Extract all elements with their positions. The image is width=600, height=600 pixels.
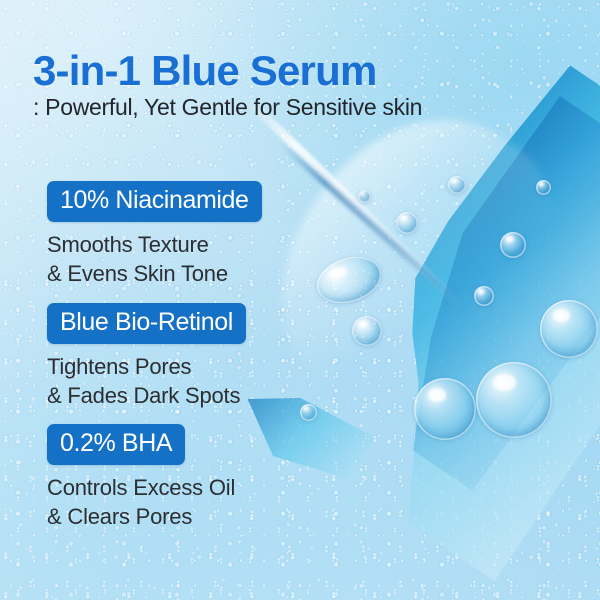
feature-description-bha: Controls Excess Oil & Clears Pores — [47, 473, 235, 531]
page-title: 3-in-1 Blue Serum — [33, 47, 376, 95]
feature-description-bio-retinol: Tightens Pores & Fades Dark Spots — [47, 352, 246, 410]
poster-content: 3-in-1 Blue Serum : Powerful, Yet Gentle… — [0, 0, 600, 600]
feature-block-bio-retinol: Blue Bio-Retinol Tightens Pores & Fades … — [47, 303, 246, 410]
feature-description-niacinamide: Smooths Texture & Evens Skin Tone — [47, 230, 262, 288]
feature-description-line: & Clears Pores — [47, 502, 235, 531]
feature-description-line: & Fades Dark Spots — [47, 381, 246, 410]
ingredient-badge-bio-retinol: Blue Bio-Retinol — [47, 303, 246, 344]
feature-description-line: Controls Excess Oil — [47, 473, 235, 502]
feature-description-line: Tightens Pores — [47, 352, 246, 381]
ingredient-badge-bha: 0.2% BHA — [47, 424, 185, 465]
feature-description-line: & Evens Skin Tone — [47, 259, 262, 288]
page-subtitle: : Powerful, Yet Gentle for Sensitive ski… — [33, 94, 422, 121]
feature-block-niacinamide: 10% Niacinamide Smooths Texture & Evens … — [47, 181, 262, 288]
product-poster: 3-in-1 Blue Serum : Powerful, Yet Gentle… — [0, 0, 600, 600]
feature-block-bha: 0.2% BHA Controls Excess Oil & Clears Po… — [47, 424, 235, 531]
ingredient-badge-niacinamide: 10% Niacinamide — [47, 181, 262, 222]
feature-description-line: Smooths Texture — [47, 230, 262, 259]
